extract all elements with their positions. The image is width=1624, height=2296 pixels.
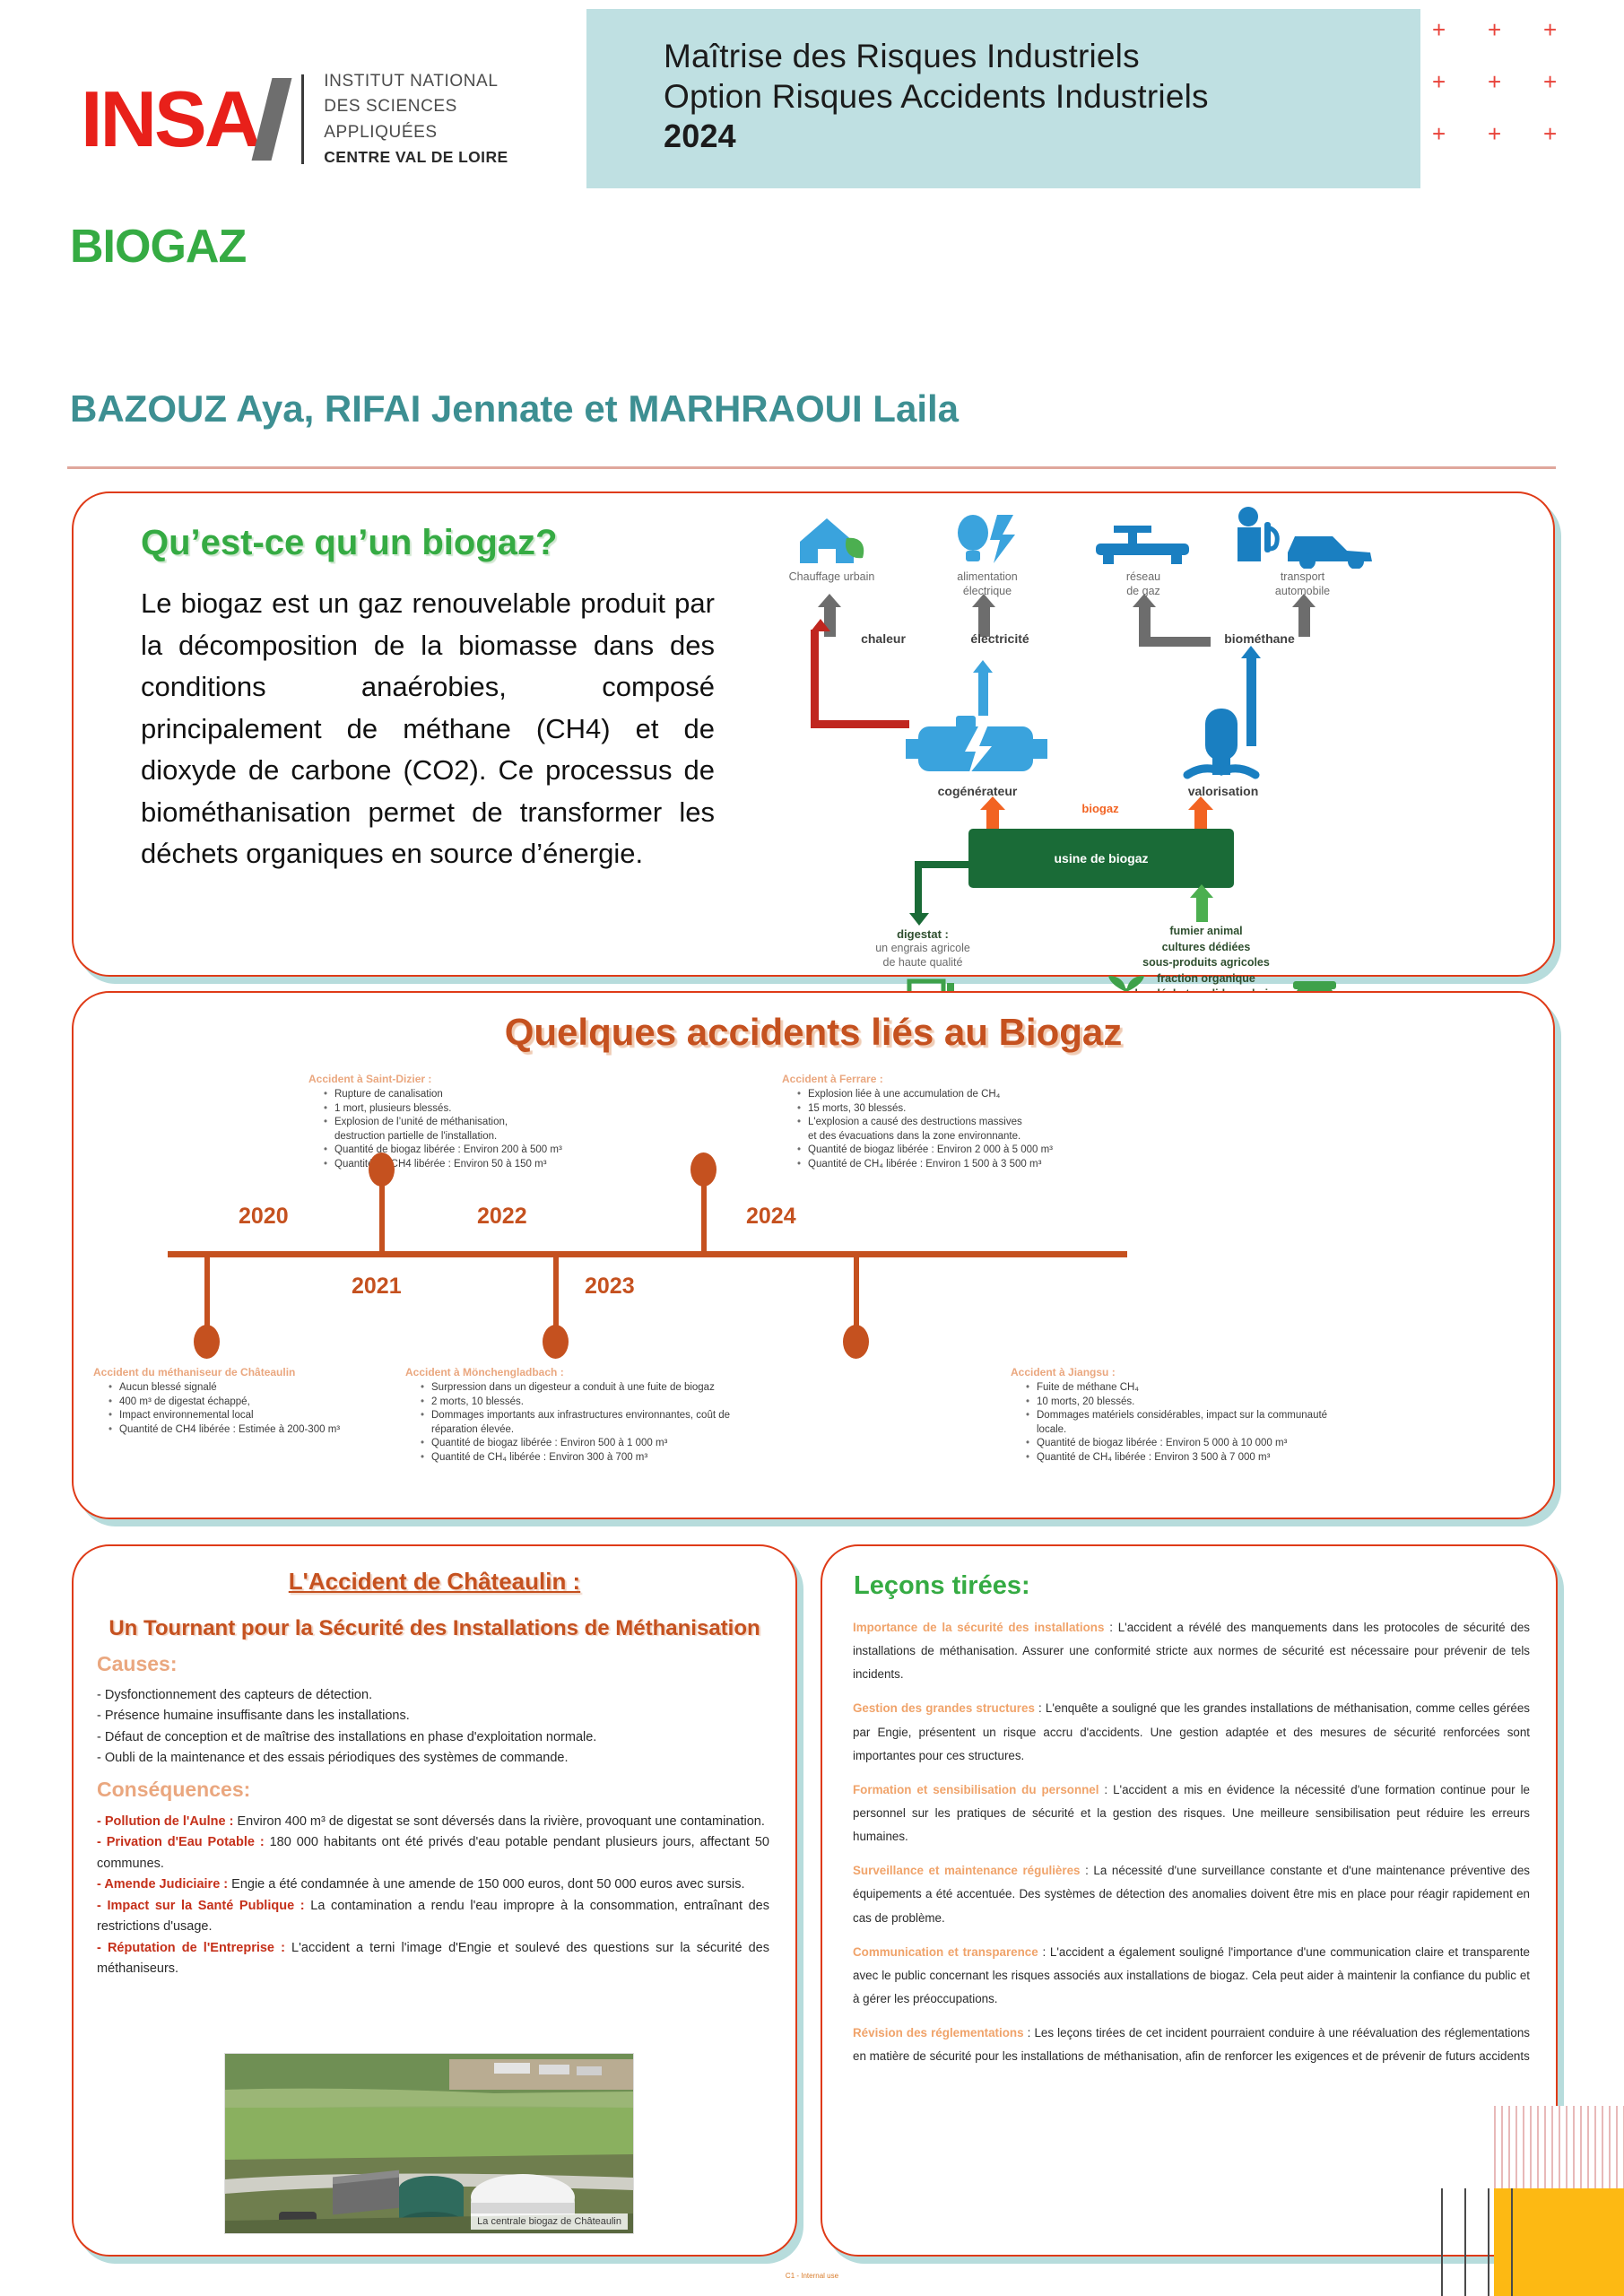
event-bullet: 1 mort, plusieurs blessés. (324, 1102, 613, 1117)
event-bullet: Surpression dans un digesteur a conduit … (421, 1381, 755, 1396)
event-bullet: Quantité de CH4 libérée : Estimée à 200-… (109, 1423, 380, 1438)
authors-line: BAZOUZ Aya, RIFAI Jennate et MARHRAOUI L… (70, 387, 959, 430)
plus-icon: + (1488, 18, 1501, 41)
lecons-card: Leçons tirées: Importance de la sécurité… (821, 1544, 1558, 2257)
event-bullet: Aucun blessé signalé (109, 1381, 380, 1396)
timeline-stem-2020 (204, 1255, 210, 1332)
timeline-event-jiangsu: Accident à Jiangsu : Fuite de méthane CH… (1011, 1365, 1365, 1465)
timeline-event-saint-dizier: Accident à Saint-Dizier : Rupture de can… (308, 1072, 613, 1171)
arrowhead-icon (818, 594, 841, 607)
footer-bar (1441, 2188, 1443, 2296)
consequence-item: - Impact sur la Santé Publique : La cont… (97, 1896, 769, 1938)
event-bullet: Quantité de biogaz libérée : Environ 200… (324, 1144, 613, 1158)
consequence-lead: - Privation d'Eau Potable : (97, 1835, 265, 1849)
flow-label-chaleur: chaleur (843, 631, 924, 648)
event-bullet-cont: et des évacuations dans la zone environn… (797, 1130, 1114, 1144)
arrow-inputs-up (1196, 895, 1208, 922)
plus-icon: + (1432, 122, 1446, 145)
event-bullet: Quantité de biogaz libérée : Environ 2 0… (797, 1144, 1114, 1158)
consequence-lead: - Amende Judiciaire : (97, 1877, 228, 1892)
event-title: Accident à Mönchengladbach : (405, 1365, 755, 1379)
event-bullet: 400 m³ de digestat échappé, (109, 1396, 380, 1410)
consequence-lead: - Pollution de l'Aulne : (97, 1814, 233, 1829)
timeline-year-2021: 2021 (352, 1274, 402, 1300)
causes-heading: Causes: (97, 1652, 177, 1676)
heat-return-horizontal (811, 720, 909, 728)
event-bullet: Quantité de biogaz libérée : Environ 5 0… (1026, 1437, 1365, 1451)
event-bullet: Explosion liée à une accumulation de CH₄ (797, 1088, 1114, 1102)
event-bullet-cont: réparation élevée. (421, 1423, 755, 1438)
arrow-cogen-up (978, 671, 988, 716)
arrowhead-icon (980, 796, 1005, 810)
photo-caption: La centrale biogaz de Châteaulin (471, 2213, 628, 2230)
consequence-text: Environ 400 m³ de digestat se sont déver… (233, 1814, 764, 1829)
timeline-stem-2023 (701, 1179, 707, 1255)
logo-divider (301, 74, 304, 164)
event-bullet: 2 morts, 10 blessés. (421, 1396, 755, 1410)
cause-item: - Dysfonctionnement des capteurs de déte… (97, 1685, 765, 1706)
event-bullet-cont: locale. (1026, 1423, 1365, 1438)
plus-icon: + (1432, 18, 1446, 41)
cause-item: - Oubli de la maintenance et des essais … (97, 1748, 765, 1769)
timeline-axis (168, 1251, 1127, 1257)
event-bullet: Impact environnemental local (109, 1409, 380, 1423)
chateaulin-card: L'Accident de Châteaulin : Un Tournant p… (72, 1544, 797, 2257)
event-title: Accident du méthaniseur de Châteaulin (93, 1365, 380, 1379)
event-bullets: Rupture de canalisation 1 mort, plusieur… (308, 1088, 613, 1171)
lecon-lead: Gestion des grandes structures (853, 1701, 1035, 1715)
insa-sub-line1: INSTITUT NATIONAL (324, 69, 508, 95)
course-title-line1: Maîtrise des Risques Industriels (664, 36, 1471, 76)
arrowhead-icon (972, 594, 995, 607)
arrowhead-icon (1241, 646, 1261, 658)
timeline-event-ferrare: Accident à Ferrare : Explosion liée à un… (782, 1072, 1114, 1171)
lecons-heading: Leçons tirées: (854, 1571, 1030, 1601)
insa-subtitle-block: INSTITUT NATIONAL DES SCIENCES APPLIQUÉE… (324, 69, 508, 170)
arrow-biogaz-cogen (986, 807, 999, 829)
timeline-dot-2022 (543, 1325, 569, 1359)
intro-heading: Qu’est-ce qu’un biogaz? (141, 523, 557, 563)
lecon-lead: Révision des réglementations (853, 2026, 1024, 2039)
timeline-dot-2021 (369, 1152, 395, 1187)
timeline-dot-2020 (194, 1325, 220, 1359)
arrowhead-icon (909, 913, 929, 926)
event-bullet: Rupture de canalisation (324, 1088, 613, 1102)
intro-card: Qu’est-ce qu’un biogaz? Le biogaz est un… (72, 491, 1555, 977)
footer-bar (1488, 2188, 1489, 2296)
plus-icon: + (1488, 122, 1501, 145)
event-bullet: Quantité de biogaz libérée : Environ 500… (421, 1437, 755, 1451)
chateaulin-subheading: Un Tournant pour la Sécurité des Install… (74, 1616, 795, 1641)
lecon-lead: Communication et transparence (853, 1945, 1038, 1959)
lecon-item: Communication et transparence : L'accide… (853, 1941, 1530, 2011)
event-bullets: Fuite de méthane CH₄ 10 morts, 20 blessé… (1011, 1381, 1365, 1465)
lecons-list: Importance de la sécurité des installati… (853, 1616, 1530, 2079)
arrowhead-icon (811, 619, 830, 631)
flow-label-chauffage: Chauffage urbain (762, 570, 901, 585)
flow-label-cogenerateur: cogénérateur (915, 784, 1040, 800)
consequences-heading: Conséquences: (97, 1778, 250, 1802)
cogenerator-icon (906, 712, 1049, 784)
lecon-item: Révision des réglementations : Les leçon… (853, 2022, 1530, 2068)
timeline-event-monchengladbach: Accident à Mönchengladbach : Surpression… (405, 1365, 755, 1465)
consequences-list: - Pollution de l'Aulne : Environ 400 m³ … (97, 1812, 769, 1980)
event-bullet: Quantité de CH₄ libérée : Environ 1 500 … (797, 1158, 1114, 1172)
flow-label-biogaz: biogaz (1042, 802, 1159, 816)
consequence-lead: - Impact sur la Santé Publique : (97, 1899, 305, 1913)
arrowhead-icon (1133, 594, 1156, 607)
timeline-year-2023: 2023 (585, 1274, 635, 1300)
chateaulin-plant-photo: La centrale biogaz de Châteaulin (224, 2053, 634, 2234)
cause-item: - Défaut de conception et de maîtrise de… (97, 1727, 765, 1748)
lecon-item: Formation et sensibilisation du personne… (853, 1779, 1530, 1848)
footer-hatch-decor (1494, 2106, 1624, 2188)
footer-yellow-block (1494, 2188, 1624, 2296)
consequence-lead: - Réputation de l'Entreprise : (97, 1941, 285, 1955)
lecon-item: Surveillance et maintenance régulières :… (853, 1859, 1530, 1929)
event-bullet: Dommages importants aux infrastructures … (421, 1409, 755, 1423)
footer-bar (1511, 2188, 1513, 2296)
event-bullets: Aucun blessé signalé 400 m³ de digestat … (93, 1381, 380, 1437)
event-title: Accident à Saint-Dizier : (308, 1072, 613, 1086)
header-title-block: Maîtrise des Risques Industriels Option … (664, 36, 1471, 156)
timeline-dot-2024 (843, 1325, 869, 1359)
event-bullets: Surpression dans un digesteur a conduit … (405, 1381, 755, 1465)
arrowhead-icon (973, 660, 993, 673)
timeline-year-2024: 2024 (746, 1204, 796, 1230)
arrow-reseau-up (1139, 604, 1151, 637)
flow-label-electricite: électricité (951, 631, 1049, 648)
event-bullet: Fuite de méthane CH₄ (1026, 1381, 1365, 1396)
plus-icon: + (1543, 70, 1557, 93)
arrowhead-icon (1190, 884, 1213, 898)
consequence-item: - Amende Judiciaire : Engie a été condam… (97, 1874, 769, 1895)
timeline-stem-2024 (854, 1255, 859, 1332)
arrowhead-icon (1292, 594, 1316, 607)
consequence-item: - Privation d'Eau Potable : 180 000 habi… (97, 1832, 769, 1874)
plus-icon: + (1543, 18, 1557, 41)
event-bullets: Explosion liée à une accumulation de CH₄… (782, 1088, 1114, 1171)
flow-label-digestat-sub: un engrais agricolede haute qualité (855, 942, 990, 970)
timeline-stem-2021 (379, 1179, 385, 1255)
lecon-lead: Importance de la sécurité des installati… (853, 1621, 1104, 1634)
footer-note: C1 - Internal use (0, 2272, 1624, 2280)
gas-tap-icon (1094, 524, 1193, 567)
insa-sub-line3: APPLIQUÉES (324, 120, 508, 146)
house-heating-icon (791, 511, 872, 567)
biogas-flow-diagram: Chauffage urbain alimentationélectrique … (755, 504, 1526, 970)
insa-logo: INSA INSTITUT NATIONAL DES SCIENCES APPL… (81, 67, 556, 170)
timeline-stem-2022 (553, 1255, 559, 1332)
header-rule (67, 466, 1556, 469)
event-bullet: L'explosion a causé des destructions mas… (797, 1116, 1114, 1130)
digestat-elbow-v (915, 861, 922, 915)
plus-icon: + (1432, 70, 1446, 93)
timeline-dot-2023 (690, 1152, 716, 1187)
timeline-year-2020: 2020 (239, 1204, 289, 1230)
plus-icon: + (1488, 70, 1501, 93)
event-bullet: Explosion de l’unité de méthanisation, (324, 1116, 613, 1130)
arrow-biogaz-valorisation (1194, 807, 1207, 829)
insa-sub-line4: CENTRE VAL DE LOIRE (324, 145, 508, 169)
event-title: Accident à Jiangsu : (1011, 1365, 1365, 1379)
usine-de-biogaz-box: usine de biogaz (968, 829, 1234, 888)
timeline-heading: Quelques accidents liés au Biogaz (74, 1011, 1553, 1054)
causes-list: - Dysfonctionnement des capteurs de déte… (97, 1685, 765, 1770)
lecon-item: Importance de la sécurité des installati… (853, 1616, 1530, 1686)
consequence-item: - Réputation de l'Entreprise : L'acciden… (97, 1938, 769, 1980)
poster-title: BIOGAZ (70, 220, 246, 274)
course-year: 2024 (664, 117, 1471, 156)
event-bullet: Quantité de CH₄ libérée : Environ 3 500 … (1026, 1451, 1365, 1465)
flow-label-biomethane: biométhane (1203, 631, 1316, 648)
intro-paragraph: Le biogaz est un gaz renouvelable produi… (141, 583, 715, 875)
event-bullet: Quantité de CH₄ libérée : Environ 300 à … (421, 1451, 755, 1465)
lecon-lead: Surveillance et maintenance régulières (853, 1864, 1081, 1877)
flow-label-digestat-title: digestat : (864, 927, 981, 942)
lecon-item: Gestion des grandes structures : L'enquê… (853, 1697, 1530, 1767)
event-bullet: Quantité de CH4 libérée : Environ 50 à 1… (324, 1158, 613, 1172)
chateaulin-heading: L'Accident de Châteaulin : (74, 1568, 795, 1596)
decorative-cross-grid: + + + + + + + + + (1432, 18, 1594, 161)
consequence-item: - Pollution de l'Aulne : Environ 400 m³ … (97, 1812, 769, 1832)
digestat-elbow-h (915, 861, 970, 868)
plant-photo-illustration (225, 2054, 633, 2233)
event-title: Accident à Ferrare : (782, 1072, 1114, 1086)
insa-sub-line2: DES SCIENCES (324, 94, 508, 120)
timeline-card: Quelques accidents liés au Biogaz Accide… (72, 991, 1555, 1519)
cause-item: - Présence humaine insuffisante dans les… (97, 1706, 765, 1726)
flow-elbow-biomethane (1139, 637, 1211, 647)
footer-bar (1464, 2188, 1466, 2296)
bulb-electric-icon (951, 511, 1020, 567)
plus-icon: + (1543, 122, 1557, 145)
arrowhead-icon (1188, 796, 1213, 810)
event-bullet: 10 morts, 20 blessés. (1026, 1396, 1365, 1410)
lecon-lead: Formation et sensibilisation du personne… (853, 1783, 1099, 1796)
timeline-year-2022: 2022 (477, 1204, 527, 1230)
course-title-line2: Option Risques Accidents Industriels (664, 76, 1471, 117)
arrow-valorisation-up (1246, 657, 1256, 746)
timeline-event-chateaulin: Accident du méthaniseur de Châteaulin Au… (93, 1365, 380, 1437)
event-bullet: Dommages matériels considérables, impact… (1026, 1409, 1365, 1423)
event-bullet-cont: destruction partielle de l'installation. (324, 1130, 613, 1144)
car-fuel-icon (1229, 506, 1381, 569)
flow-label-valorisation: valorisation (1169, 784, 1277, 800)
consequence-text: Engie a été condamnée à une amende de 15… (228, 1877, 744, 1892)
event-bullet: 15 morts, 30 blessés. (797, 1102, 1114, 1117)
insa-wordmark: INSA (81, 80, 258, 159)
heat-return-vertical (811, 630, 819, 728)
